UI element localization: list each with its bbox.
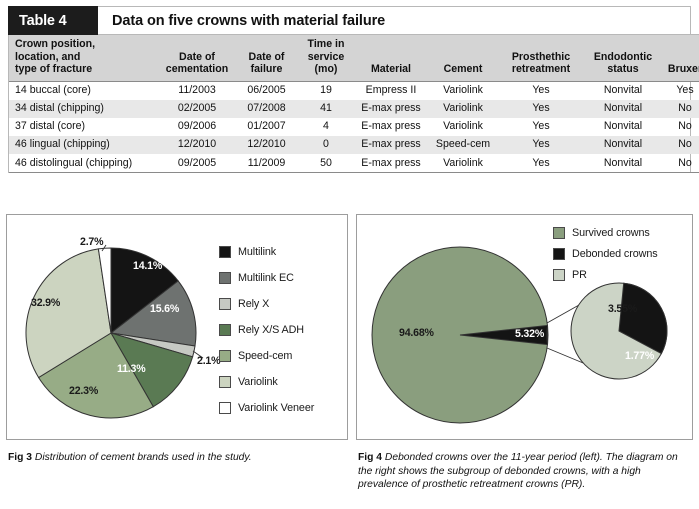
table-caption-title: Data on five crowns with material failur… <box>98 7 385 34</box>
table-cell-cement: Speed-cem <box>428 136 498 154</box>
legend-item-label: Variolink Veneer <box>238 402 314 414</box>
table-cell-material: E-max press <box>354 118 428 136</box>
table-cell-prosthethic-retreatment: Yes <box>498 136 584 154</box>
column-header-cement: Cement <box>428 35 498 82</box>
table-cell-crown-position: 14 buccal (core) <box>9 81 159 100</box>
table-4-block: Table 4 Data on five crowns with materia… <box>8 6 691 173</box>
figure-3-legend-item: Rely X <box>219 291 314 317</box>
table-cell-cement: Variolink <box>428 100 498 118</box>
header-line: (mo) <box>315 63 338 75</box>
table-cell-time-in-service: 0 <box>298 136 354 154</box>
table-cell-prosthethic-retreatment: Yes <box>498 81 584 100</box>
column-header-crown-position: Crown position, location, and type of fr… <box>9 35 159 82</box>
legend-item-label: Debonded crowns <box>572 248 658 260</box>
legend-item-label: Rely X/S ADH <box>238 324 304 336</box>
figure-4-caption-text: Debonded crowns over the 11-year period … <box>358 452 678 490</box>
legend-item-label: PR <box>572 269 587 281</box>
header-line: type of fracture <box>15 63 92 75</box>
table-cell-bruxer: No <box>662 100 699 118</box>
figure-4-legend-item: Debonded crowns <box>553 243 658 264</box>
header-line: Bruxer <box>668 63 699 75</box>
table-cell-crown-position: 37 distal (core) <box>9 118 159 136</box>
table-cell-bruxer: No <box>662 154 699 173</box>
table-cell-date-of-failure: 01/2007 <box>235 118 298 136</box>
table-cell-cement: Variolink <box>428 118 498 136</box>
table-cell-material: E-max press <box>354 154 428 173</box>
header-line: Time in <box>308 38 345 50</box>
pie-value-label-speed-cem: 22.3% <box>69 385 98 397</box>
column-header-bruxer: Bruxer <box>662 35 699 82</box>
header-line: location, and <box>15 51 80 63</box>
header-line: service <box>308 51 345 63</box>
table-cell-cement: Variolink <box>428 81 498 100</box>
table-cell-endodontic-status: Nonvital <box>584 100 662 118</box>
table-header-row: Crown position, location, and type of fr… <box>9 35 699 82</box>
table-cell-material: E-max press <box>354 100 428 118</box>
figure-3-legend: MultilinkMultilink ECRely XRely X/S ADHS… <box>219 239 314 421</box>
pie-value-label-multilink-ec: 15.6% <box>150 303 179 315</box>
figure-4-legend: Survived crownsDebonded crownsPR <box>553 222 658 285</box>
table-cell-endodontic-status: Nonvital <box>584 81 662 100</box>
figure-3-legend-item: Multilink <box>219 239 314 265</box>
pie-value-label-rely-x-s-adh: 11.3% <box>117 363 145 375</box>
figure-4-legend-item: Survived crowns <box>553 222 658 243</box>
legend-swatch-icon <box>553 227 565 239</box>
figure-3-legend-item: Speed-cem <box>219 343 314 369</box>
legend-swatch-icon <box>553 248 565 260</box>
header-line: retreatment <box>512 63 570 75</box>
table-cell-time-in-service: 50 <box>298 154 354 173</box>
fig4-detail-pie <box>571 280 684 379</box>
table-cell-bruxer: Yes <box>662 81 699 100</box>
header-line: Date of <box>249 51 285 63</box>
pie-value-label-debonded-crowns: 5.32% <box>515 328 544 340</box>
table-cell-bruxer: No <box>662 118 699 136</box>
table-number-tag: Table 4 <box>8 6 98 35</box>
detail-pie-value-label-debonded: 1.77% <box>625 350 654 362</box>
figure-4-caption-label: Fig 4 <box>358 452 382 463</box>
table-cell-date-of-cementation: 09/2005 <box>159 154 235 173</box>
table-title-bar: Table 4 Data on five crowns with materia… <box>8 6 691 34</box>
legend-swatch-icon <box>219 350 231 362</box>
table-cell-date-of-cementation: 09/2006 <box>159 118 235 136</box>
figure-3-caption-label: Fig 3 <box>8 452 32 463</box>
column-header-date-of-failure: Date of failure <box>235 35 298 82</box>
figure-4-legend-item: PR <box>553 264 658 285</box>
pie-value-label-multilink: 14.1% <box>133 260 162 272</box>
legend-item-label: Multilink <box>238 246 276 258</box>
table-body: 14 buccal (core)11/200306/200519Empress … <box>9 81 699 172</box>
legend-swatch-icon <box>219 272 231 284</box>
table-row: 46 lingual (chipping)12/201012/20100E-ma… <box>9 136 699 154</box>
legend-item-label: Speed-cem <box>238 350 292 362</box>
header-line: Material <box>371 63 411 75</box>
legend-swatch-icon <box>219 298 231 310</box>
column-header-endodontic-status: Endodontic status <box>584 35 662 82</box>
table-cell-prosthethic-retreatment: Yes <box>498 100 584 118</box>
table-cell-endodontic-status: Nonvital <box>584 154 662 173</box>
header-line: Endodontic <box>594 51 652 63</box>
figure-3-legend-item: Rely X/S ADH <box>219 317 314 343</box>
table-cell-crown-position: 46 distolingual (chipping) <box>9 154 159 173</box>
pie-value-label-variolink-veneer: 2.7% <box>80 236 103 248</box>
legend-item-label: Rely X <box>238 298 269 310</box>
header-line: Crown position, <box>15 38 95 50</box>
table-cell-crown-position: 46 lingual (chipping) <box>9 136 159 154</box>
table-cell-date-of-cementation: 12/2010 <box>159 136 235 154</box>
column-header-time-in-service: Time in service (mo) <box>298 35 354 82</box>
figure-3-legend-item: Variolink <box>219 369 314 395</box>
pie-value-label-rely-x: 2.1% <box>197 355 220 367</box>
table-row: 46 distolingual (chipping)09/200511/2009… <box>9 154 699 173</box>
table-cell-bruxer: No <box>662 136 699 154</box>
legend-item-label: Survived crowns <box>572 227 650 239</box>
table-scroll-wrap: Crown position, location, and type of fr… <box>8 34 691 173</box>
column-header-material: Material <box>354 35 428 82</box>
table-row: 14 buccal (core)11/200306/200519Empress … <box>9 81 699 100</box>
table-cell-time-in-service: 4 <box>298 118 354 136</box>
header-line: status <box>607 63 638 75</box>
legend-item-label: Variolink <box>238 376 278 388</box>
table-cell-prosthethic-retreatment: Yes <box>498 154 584 173</box>
pie-value-label-variolink: 32.9% <box>31 297 60 309</box>
fig3-pie-slices <box>26 248 196 418</box>
table-cell-time-in-service: 19 <box>298 81 354 100</box>
table-cell-endodontic-status: Nonvital <box>584 136 662 154</box>
header-line: Cement <box>444 63 483 75</box>
figure-4-caption: Fig 4 Debonded crowns over the 11-year p… <box>358 451 692 492</box>
table-cell-date-of-failure: 06/2005 <box>235 81 298 100</box>
table-cell-material: Empress II <box>354 81 428 100</box>
table-cell-time-in-service: 41 <box>298 100 354 118</box>
column-header-date-of-cementation: Date of cementation <box>159 35 235 82</box>
table-cell-cement: Variolink <box>428 154 498 173</box>
legend-swatch-icon <box>553 269 565 281</box>
figure-3-legend-item: Variolink Veneer <box>219 395 314 421</box>
crown-failure-table: Crown position, location, and type of fr… <box>9 34 699 173</box>
header-line: failure <box>251 63 283 75</box>
pie-value-label-survived-crowns: 94.68% <box>399 327 434 339</box>
figure-3-caption-text: Distribution of cement brands used in th… <box>35 452 252 463</box>
figure-3-caption: Fig 3 Distribution of cement brands used… <box>8 451 338 465</box>
legend-swatch-icon <box>219 376 231 388</box>
table-cell-date-of-failure: 11/2009 <box>235 154 298 173</box>
table-row: 37 distal (core)09/200601/20074E-max pre… <box>9 118 699 136</box>
table-cell-date-of-failure: 12/2010 <box>235 136 298 154</box>
table-cell-endodontic-status: Nonvital <box>584 118 662 136</box>
legend-swatch-icon <box>219 324 231 336</box>
header-line: Prosthethic <box>512 51 570 63</box>
figure-3-legend-item: Multilink EC <box>219 265 314 291</box>
detail-pie-value-label-pr: 3.55% <box>608 303 637 315</box>
legend-swatch-icon <box>219 402 231 414</box>
table-cell-prosthethic-retreatment: Yes <box>498 118 584 136</box>
table-cell-date-of-failure: 07/2008 <box>235 100 298 118</box>
legend-swatch-icon <box>219 246 231 258</box>
table-cell-date-of-cementation: 02/2005 <box>159 100 235 118</box>
header-line: cementation <box>166 63 228 75</box>
table-cell-material: E-max press <box>354 136 428 154</box>
table-cell-date-of-cementation: 11/2003 <box>159 81 235 100</box>
header-line: Date of <box>179 51 215 63</box>
column-header-prosthethic-retreatment: Prosthethic retreatment <box>498 35 584 82</box>
table-cell-crown-position: 34 distal (chipping) <box>9 100 159 118</box>
legend-item-label: Multilink EC <box>238 272 294 284</box>
table-row: 34 distal (chipping)02/200507/200841E-ma… <box>9 100 699 118</box>
